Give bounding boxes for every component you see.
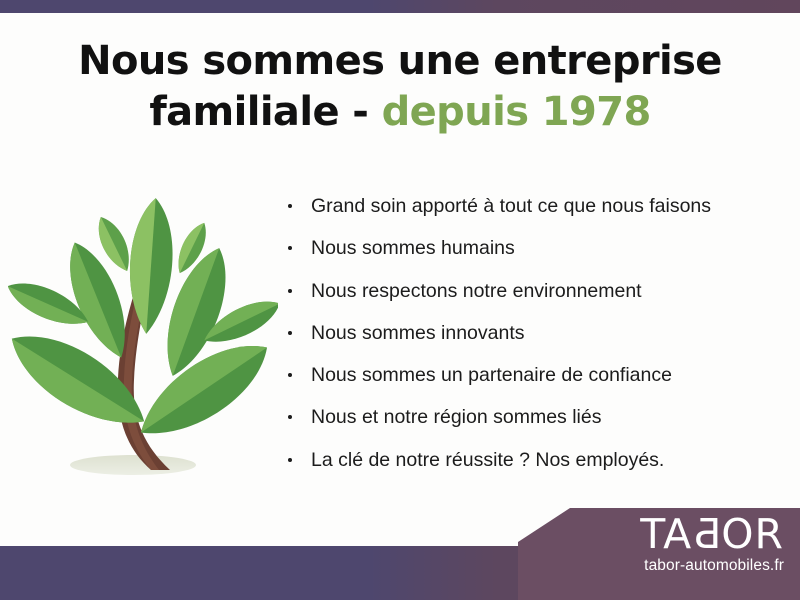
headline-line-2: familiale - depuis 1978 xyxy=(0,87,800,138)
list-item: Grand soin apporté à tout ce que nous fa… xyxy=(285,193,785,235)
page-title: Nous sommes une entreprise familiale - d… xyxy=(0,36,800,138)
brand-wordmark-text: TAƋOR xyxy=(640,514,784,555)
list-item-label: La clé de notre réussite ? Nos employés. xyxy=(311,449,664,471)
list-item: La clé de notre réussite ? Nos employés. xyxy=(285,447,785,489)
list-item: Nous sommes un partenaire de confiance xyxy=(285,362,785,404)
list-item: Nous sommes humains xyxy=(285,235,785,277)
brand-website-url: tabor-automobiles.fr xyxy=(574,557,784,575)
list-item-label: Nous respectons notre environnement xyxy=(311,280,642,302)
bullet-dot-icon xyxy=(288,331,292,335)
bullet-dot-icon xyxy=(288,246,292,250)
list-item-label: Nous et notre région sommes liés xyxy=(311,406,601,428)
tree-illustration xyxy=(8,182,278,492)
list-item-label: Grand soin apporté à tout ce que nous fa… xyxy=(311,195,711,217)
headline-line-1: Nous sommes une entreprise xyxy=(0,36,800,87)
list-item-label: Nous sommes innovants xyxy=(311,322,525,344)
list-item: Nous sommes innovants xyxy=(285,320,785,362)
top-accent-band xyxy=(0,0,800,13)
brand-logo: TAƋOR tabor-automobiles.fr xyxy=(574,515,784,575)
bullet-dot-icon xyxy=(288,289,292,293)
list-item-label: Nous sommes un partenaire de confiance xyxy=(311,364,672,386)
bullet-dot-icon xyxy=(288,415,292,419)
brand-logo-plate: TAƋOR tabor-automobiles.fr xyxy=(518,508,800,600)
headline-line-2-main: familiale - xyxy=(149,89,368,135)
headline-accent-since-year: depuis 1978 xyxy=(382,89,651,135)
ground-shadow-ellipse xyxy=(70,455,196,475)
bullet-dot-icon xyxy=(288,458,292,462)
list-item: Nous et notre région sommes liés xyxy=(285,404,785,446)
list-item: Nous respectons notre environnement xyxy=(285,278,785,320)
brand-wordmark: TAƋOR xyxy=(574,515,784,555)
slide-canvas: Nous sommes une entreprise familiale - d… xyxy=(0,0,800,600)
bullet-dot-icon xyxy=(288,373,292,377)
value-proposition-list: Grand soin apporté à tout ce que nous fa… xyxy=(285,193,785,489)
bullet-dot-icon xyxy=(288,204,292,208)
list-item-label: Nous sommes humains xyxy=(311,237,515,259)
